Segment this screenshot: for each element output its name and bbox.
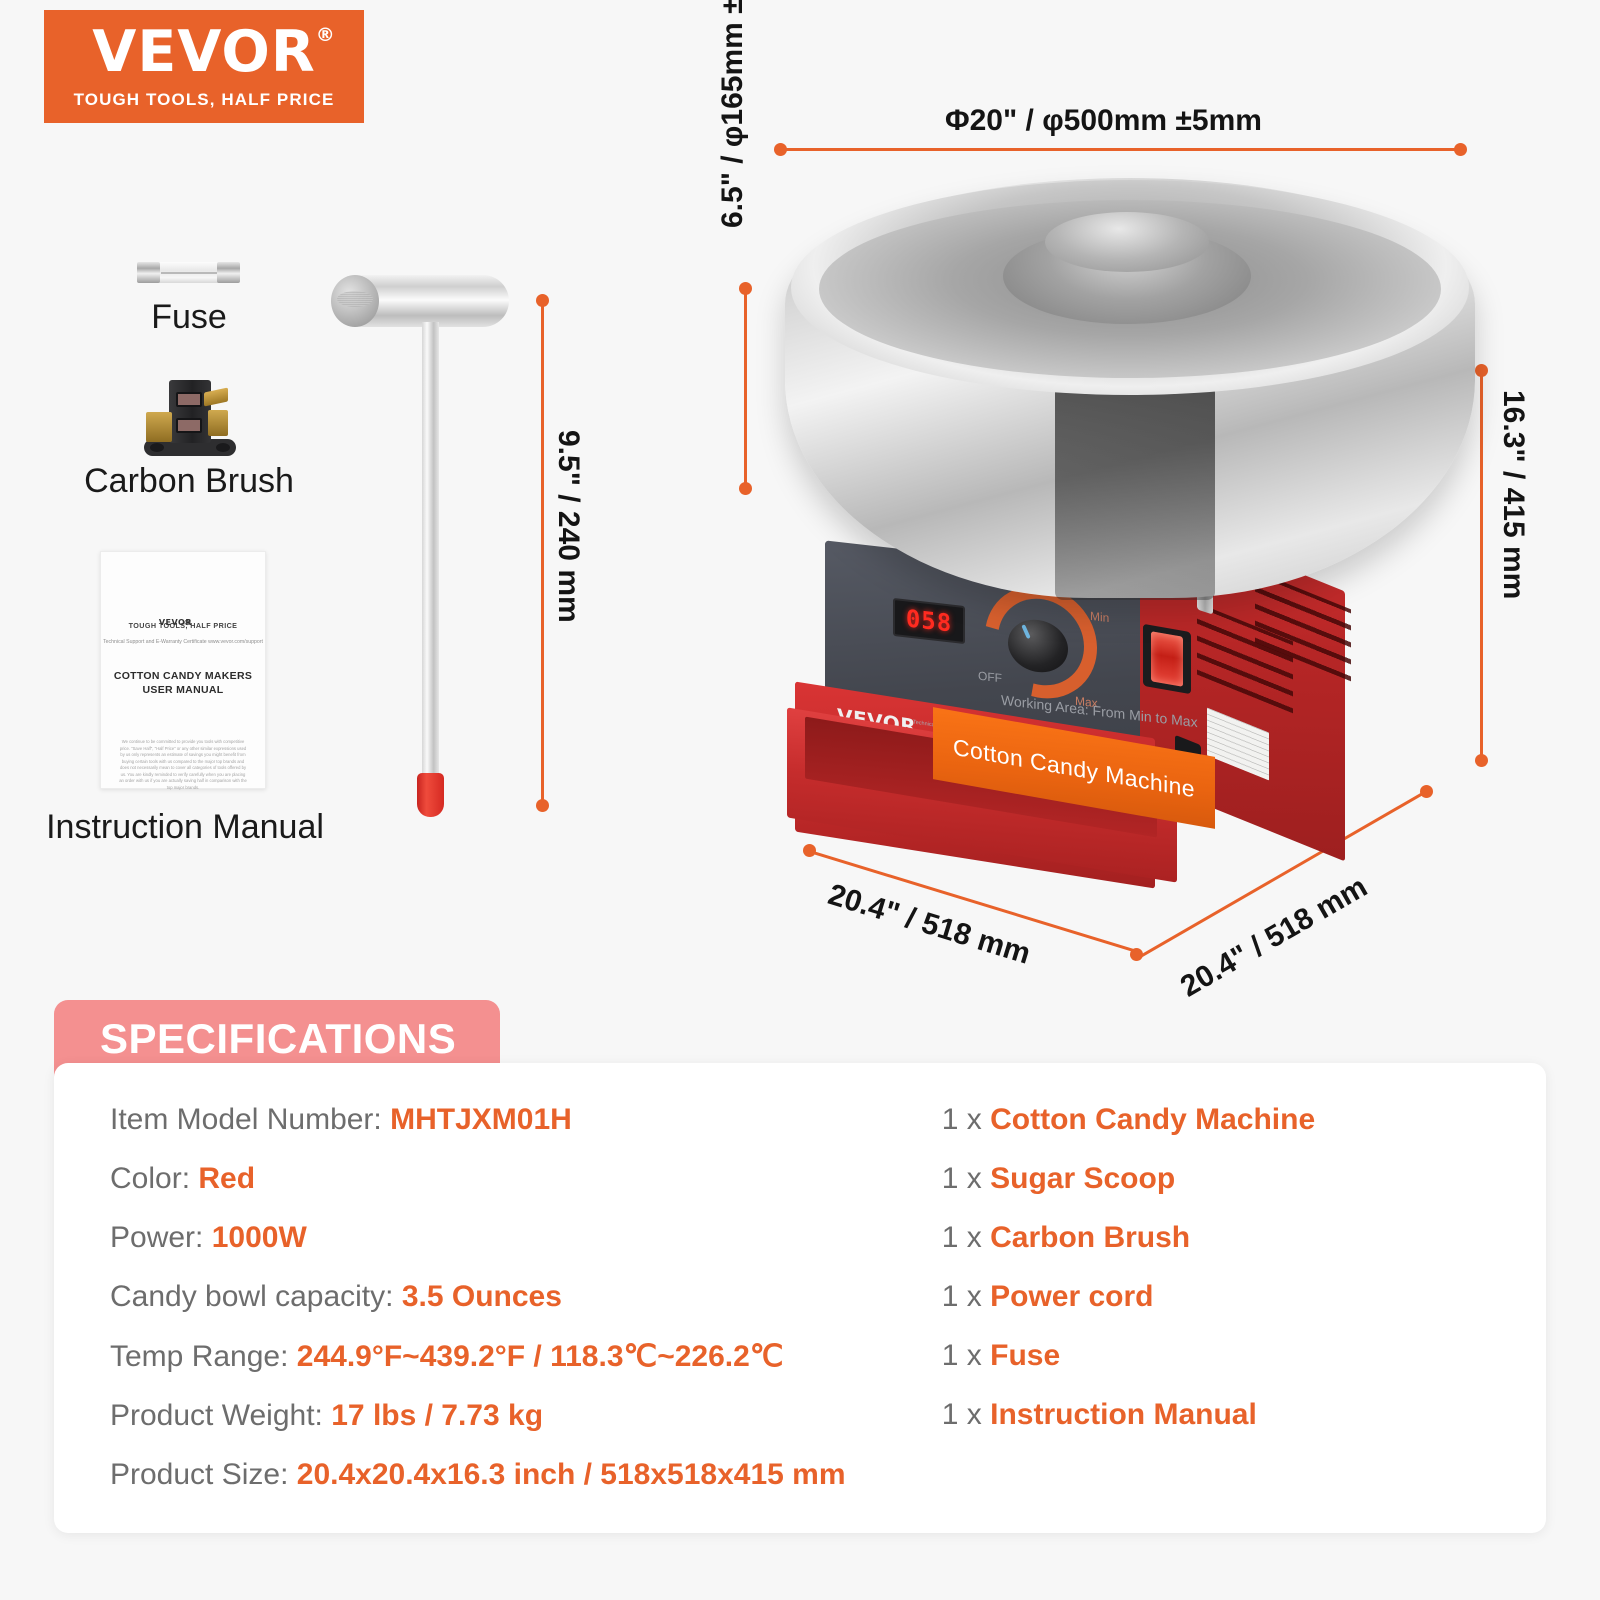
brush-contact-lower	[176, 418, 202, 433]
spec-value: MHTJXM01H	[390, 1103, 572, 1136]
vevor-logo: VEVOR ® TOUGH TOOLS, HALF PRICE	[44, 10, 364, 123]
temperature-display: 058	[893, 598, 965, 644]
bowl-inner-shadow	[1055, 385, 1215, 600]
specifications-list: Item Model Number: MHTJXM01H Color: Red …	[54, 1063, 926, 1533]
spec-row: Power: 1000W	[110, 1221, 926, 1255]
manual-fineprint: We continue to be committed to provide y…	[119, 739, 247, 791]
fuse-cap-left	[137, 262, 160, 283]
package-qty: 1 x	[942, 1398, 982, 1431]
manual-title: COTTON CANDY MAKERS USER MANUAL	[114, 669, 252, 697]
carbon-brush-image	[142, 378, 238, 456]
bowl-diameter-label: Φ20" / φ500mm ±5mm	[945, 104, 1262, 138]
package-row: 1 x Power cord	[942, 1280, 1546, 1314]
package-row: 1 x Cotton Candy Machine	[942, 1103, 1546, 1137]
spec-label: Product Weight:	[110, 1399, 323, 1432]
power-switch-rocker	[1151, 631, 1183, 687]
spec-value: Red	[198, 1162, 255, 1195]
manual-title-line1: COTTON CANDY MAKERS	[114, 670, 252, 682]
brand-name: VEVOR	[92, 19, 316, 85]
fuse-filament	[161, 272, 217, 274]
temperature-display-value: 058	[906, 604, 952, 637]
package-row: 1 x Fuse	[942, 1339, 1546, 1373]
spec-label: Product Size:	[110, 1458, 288, 1491]
spec-value: 244.9°F~439.2°F / 118.3℃~226.2℃	[297, 1340, 784, 1373]
scoop-rod	[422, 322, 439, 787]
spec-row: Candy bowl capacity: 3.5 Ounces	[110, 1280, 926, 1314]
fuse-image	[137, 262, 240, 283]
package-item: Fuse	[990, 1339, 1060, 1372]
registered-mark: ®	[316, 26, 336, 45]
brush-mount-hole-left	[150, 443, 164, 452]
knob-off-label: OFF	[978, 669, 1002, 686]
package-row: 1 x Sugar Scoop	[942, 1162, 1546, 1196]
brush-housing	[169, 380, 211, 443]
spec-label: Candy bowl capacity:	[110, 1280, 393, 1313]
spec-value: 20.4x20.4x16.3 inch / 518x518x415 mm	[297, 1458, 846, 1491]
spec-row: Product Weight: 17 lbs / 7.73 kg	[110, 1399, 926, 1433]
brush-mount-hole-right	[216, 443, 230, 452]
spec-row: Color: Red	[110, 1162, 926, 1196]
brush-contact-upper	[176, 392, 202, 407]
instruction-manual-label: Instruction Manual	[42, 808, 328, 847]
package-row: 1 x Carbon Brush	[942, 1221, 1546, 1255]
package-qty: 1 x	[942, 1280, 982, 1313]
package-item: Sugar Scoop	[990, 1162, 1175, 1195]
scoop-dimension-dot-top	[536, 294, 549, 307]
spec-row: Product Size: 20.4x20.4x16.3 inch / 518x…	[110, 1458, 926, 1492]
package-item: Power cord	[990, 1280, 1153, 1313]
spec-value: 3.5 Ounces	[402, 1280, 562, 1313]
spec-label: Power:	[110, 1221, 203, 1254]
scoop-length-label: 9.5" / 240 mm	[551, 430, 585, 623]
specifications-card: Item Model Number: MHTJXM01H Color: Red …	[54, 1063, 1546, 1533]
scoop-end-cap	[331, 275, 379, 327]
scoop-dimension-line	[541, 300, 544, 805]
package-item: Carbon Brush	[990, 1221, 1190, 1254]
carbon-brush-label: Carbon Brush	[72, 462, 306, 501]
spec-value: 1000W	[212, 1221, 307, 1254]
spec-label: Item Model Number:	[110, 1103, 382, 1136]
brand-wordmark: VEVOR ®	[92, 24, 316, 81]
power-switch[interactable]	[1143, 624, 1191, 694]
manual-support-line: Technical Support and E-Warranty Certifi…	[103, 639, 263, 645]
fuse-cap-right	[217, 262, 240, 283]
spec-row: Temp Range: 244.9°F~439.2°F / 118.3℃~226…	[110, 1339, 926, 1374]
fuse-label: Fuse	[124, 298, 254, 337]
manual-registered-mark: ®	[184, 618, 193, 627]
cotton-candy-machine-image: 058 OFF Min Max Working Area: From Min t…	[745, 150, 1505, 890]
package-row: 1 x Instruction Manual	[942, 1398, 1546, 1432]
package-item: Instruction Manual	[990, 1398, 1257, 1431]
spec-value: 17 lbs / 7.73 kg	[331, 1399, 543, 1432]
instruction-manual-image: VEVOR ® TOUGH TOOLS, HALF PRICE Technica…	[100, 551, 266, 789]
scoop-dimension-dot-bottom	[536, 799, 549, 812]
brush-terminal-right	[208, 410, 228, 436]
spec-label: Temp Range:	[110, 1340, 288, 1373]
scoop-rubber-tip	[417, 773, 444, 817]
machine-width-label: 20.4" / 518 mm	[824, 878, 1034, 972]
package-qty: 1 x	[942, 1221, 982, 1254]
manual-title-line2: USER MANUAL	[143, 684, 224, 696]
machine-depth-label: 20.4" / 518 mm	[1175, 870, 1373, 1004]
spec-label: Color:	[110, 1162, 190, 1195]
spec-row: Item Model Number: MHTJXM01H	[110, 1103, 926, 1137]
brush-terminal-left	[146, 412, 172, 442]
package-qty: 1 x	[942, 1339, 982, 1372]
package-item: Cotton Candy Machine	[990, 1103, 1315, 1136]
package-qty: 1 x	[942, 1162, 982, 1195]
package-qty: 1 x	[942, 1103, 982, 1136]
sugar-scoop-image	[325, 272, 530, 817]
brand-tagline: TOUGH TOOLS, HALF PRICE	[74, 90, 335, 110]
package-contents-list: 1 x Cotton Candy Machine 1 x Sugar Scoop…	[926, 1063, 1546, 1533]
knob-min-label: Min	[1090, 609, 1109, 625]
spinner-head-cap	[1045, 212, 1209, 272]
